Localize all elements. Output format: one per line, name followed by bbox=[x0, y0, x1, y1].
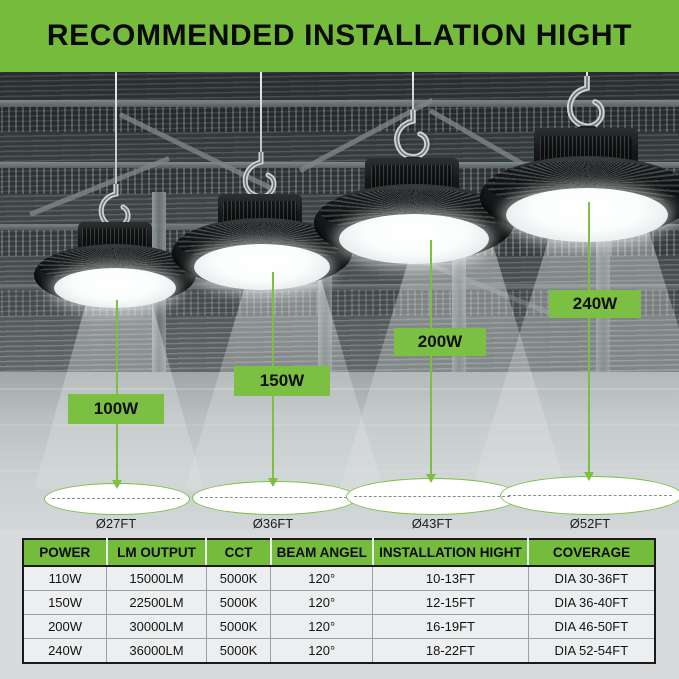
cell-cct: 5000K bbox=[206, 639, 270, 664]
diameter-line-200w bbox=[354, 496, 510, 497]
diameter-label-100w: Ø27FT bbox=[66, 516, 166, 531]
cell-lm-output: 36000LM bbox=[107, 639, 207, 664]
cell-cct: 5000K bbox=[206, 566, 270, 591]
cell-power: 150W bbox=[23, 591, 107, 615]
fixture-lens bbox=[54, 268, 176, 308]
suspension-cable bbox=[260, 72, 262, 160]
cell-coverage: DIA 52-54FT bbox=[528, 639, 655, 664]
cell-coverage: DIA 36-40FT bbox=[528, 591, 655, 615]
tag-label: 200W bbox=[418, 332, 462, 352]
diameter-label-150w: Ø36FT bbox=[223, 516, 323, 531]
callout-arrow-200w bbox=[426, 474, 436, 483]
table-row: 200W 30000LM 5000K 120° 16-19FT DIA 46-5… bbox=[23, 615, 655, 639]
fixture-lens bbox=[194, 244, 330, 290]
tag-150w: 150W bbox=[234, 366, 330, 396]
cell-installation-hight: 12-15FT bbox=[373, 591, 528, 615]
cell-lm-output: 15000LM bbox=[107, 566, 207, 591]
cell-cct: 5000K bbox=[206, 591, 270, 615]
spec-table-container: POWER LM OUTPUT CCT BEAM ANGEL INSTALLAT… bbox=[22, 538, 656, 664]
suspension-cable bbox=[115, 72, 117, 192]
cell-installation-hight: 10-13FT bbox=[373, 566, 528, 591]
fixture-lens bbox=[506, 188, 668, 242]
callout-line-240w bbox=[588, 202, 590, 290]
tag-label: 100W bbox=[94, 399, 138, 419]
cell-installation-hight: 16-19FT bbox=[373, 615, 528, 639]
header-banner: RECOMMENDED INSTALLATION HIGHT bbox=[0, 0, 679, 72]
callout-line-100w-lower bbox=[116, 424, 118, 484]
tag-label: 240W bbox=[573, 294, 617, 314]
spec-table: POWER LM OUTPUT CCT BEAM ANGEL INSTALLAT… bbox=[22, 538, 656, 664]
cell-power: 200W bbox=[23, 615, 107, 639]
diameter-label-200w: Ø43FT bbox=[382, 516, 482, 531]
cell-installation-hight: 18-22FT bbox=[373, 639, 528, 664]
col-header-beam-angel: BEAM ANGEL bbox=[271, 539, 373, 566]
infographic-poster: RECOMMENDED INSTALLATION HIGHT bbox=[0, 0, 679, 679]
page-title: RECOMMENDED INSTALLATION HIGHT bbox=[47, 19, 632, 53]
tag-200w: 200W bbox=[394, 328, 486, 356]
diameter-label-240w: Ø52FT bbox=[540, 516, 640, 531]
table-row: 150W 22500LM 5000K 120° 12-15FT DIA 36-4… bbox=[23, 591, 655, 615]
cell-lm-output: 22500LM bbox=[107, 591, 207, 615]
cell-beam-angel: 120° bbox=[271, 615, 373, 639]
cell-coverage: DIA 30-36FT bbox=[528, 566, 655, 591]
table-row: 110W 15000LM 5000K 120° 10-13FT DIA 30-3… bbox=[23, 566, 655, 591]
cell-cct: 5000K bbox=[206, 615, 270, 639]
callout-line-200w-lower bbox=[430, 356, 432, 478]
col-header-power: POWER bbox=[23, 539, 107, 566]
cell-beam-angel: 120° bbox=[271, 639, 373, 664]
callout-arrow-100w bbox=[112, 480, 122, 489]
cell-lm-output: 30000LM bbox=[107, 615, 207, 639]
fixture-lens bbox=[339, 214, 489, 264]
diameter-line-100w bbox=[52, 498, 180, 499]
col-header-installation-hight: INSTALLATION HIGHT bbox=[373, 539, 528, 566]
cell-coverage: DIA 46-50FT bbox=[528, 615, 655, 639]
high-bay-fixture-240w bbox=[468, 72, 679, 232]
col-header-cct: CCT bbox=[206, 539, 270, 566]
tag-label: 150W bbox=[260, 371, 304, 391]
tag-100w: 100W bbox=[68, 394, 164, 424]
cell-power: 240W bbox=[23, 639, 107, 664]
callout-line-100w bbox=[116, 300, 118, 394]
callout-arrow-240w bbox=[584, 472, 594, 481]
col-header-lm-output: LM OUTPUT bbox=[107, 539, 207, 566]
tag-240w: 240W bbox=[549, 290, 641, 318]
callout-arrow-150w bbox=[268, 478, 278, 487]
col-header-coverage: COVERAGE bbox=[528, 539, 655, 566]
table-row: 240W 36000LM 5000K 120° 18-22FT DIA 52-5… bbox=[23, 639, 655, 664]
table-header-row: POWER LM OUTPUT CCT BEAM ANGEL INSTALLAT… bbox=[23, 539, 655, 566]
diameter-line-240w bbox=[508, 495, 672, 496]
cell-beam-angel: 120° bbox=[271, 591, 373, 615]
callout-line-200w bbox=[430, 240, 432, 328]
callout-line-150w bbox=[272, 272, 274, 366]
diameter-line-150w bbox=[200, 497, 347, 498]
cell-power: 110W bbox=[23, 566, 107, 591]
callout-line-240w-lower bbox=[588, 318, 590, 476]
cell-beam-angel: 120° bbox=[271, 566, 373, 591]
callout-line-150w-lower bbox=[272, 396, 274, 482]
